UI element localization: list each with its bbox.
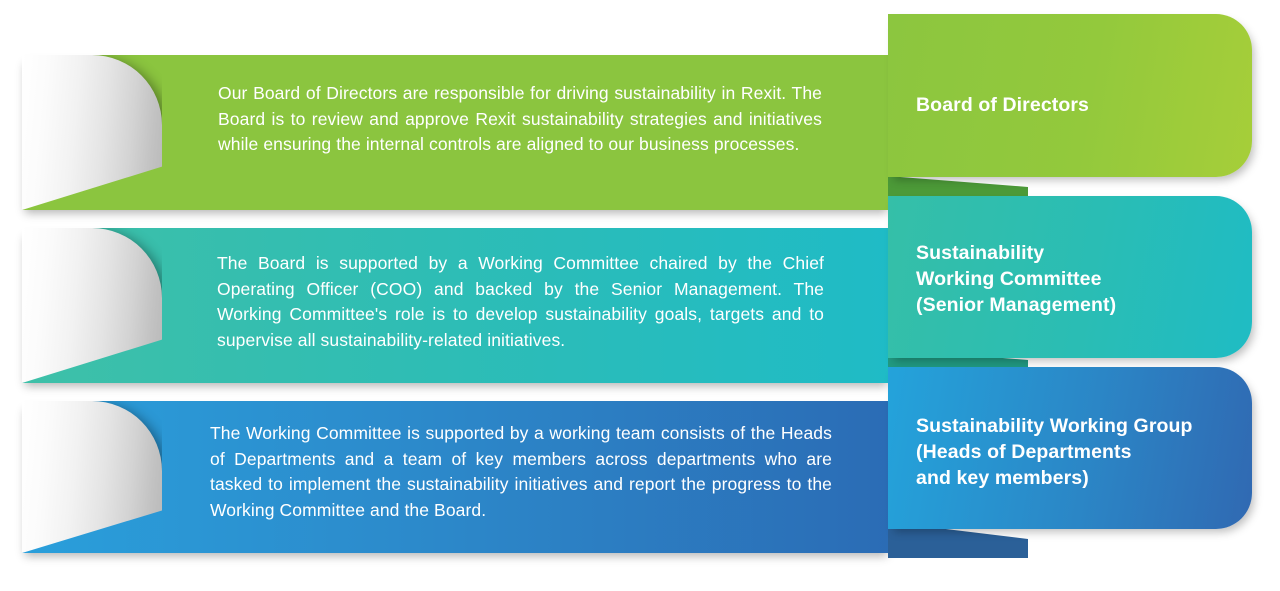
label-text-group: Sustainability Working Group (Heads of D… — [916, 413, 1193, 491]
page-curl-group — [22, 401, 162, 553]
body-text-group: The Working Committee is supported by a … — [210, 421, 832, 523]
label-box-board[interactable]: Board of Directors — [888, 14, 1252, 177]
infographic-canvas: Our Board of Directors are responsible f… — [0, 0, 1280, 591]
label-text-committee: Sustainability Working Committee (Senior… — [916, 240, 1116, 318]
body-text-board: Our Board of Directors are responsible f… — [218, 81, 822, 158]
label-box-committee[interactable]: Sustainability Working Committee (Senior… — [888, 196, 1252, 358]
label-box-group[interactable]: Sustainability Working Group (Heads of D… — [888, 367, 1252, 529]
label-text-board: Board of Directors — [916, 92, 1089, 118]
page-curl-committee — [22, 228, 162, 383]
page-curl-board — [22, 55, 162, 210]
body-text-committee: The Board is supported by a Working Comm… — [217, 251, 824, 353]
